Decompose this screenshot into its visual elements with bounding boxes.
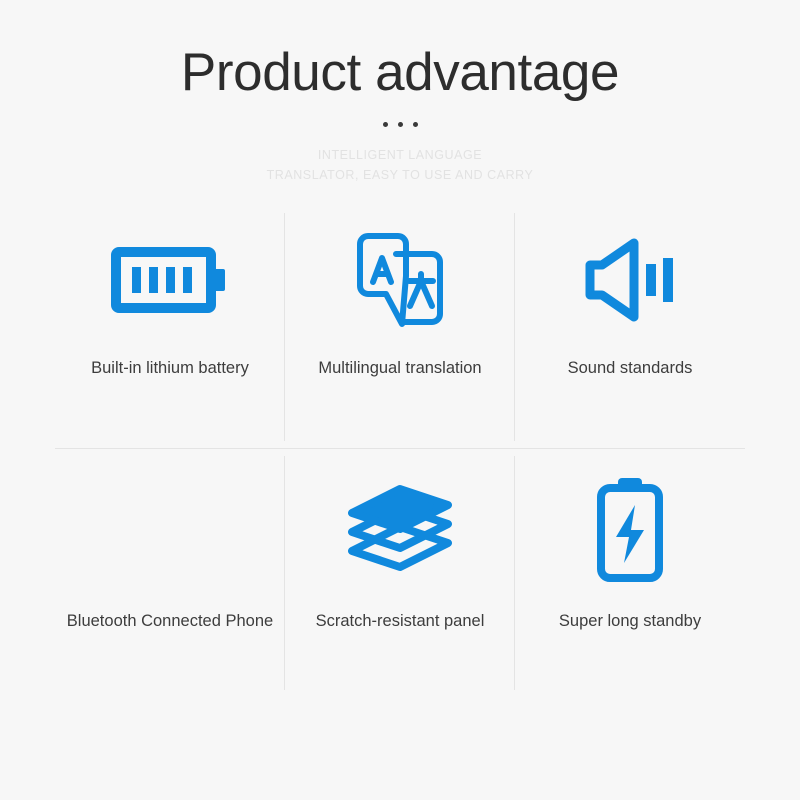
icon-slot xyxy=(582,204,678,356)
product-advantage-page: Product advantage INTELLIGENT LANGUAGE T… xyxy=(0,0,800,800)
dot-2 xyxy=(398,122,403,127)
page-title: Product advantage xyxy=(0,44,800,101)
feature-cell-super-long-standby[interactable]: Super long standby xyxy=(515,449,745,694)
icon-slot xyxy=(111,204,229,356)
page-header: Product advantage INTELLIGENT LANGUAGE T… xyxy=(0,0,800,186)
feature-label: Built-in lithium battery xyxy=(91,356,249,380)
feature-label: Bluetooth Connected Phone xyxy=(67,609,273,633)
battery-horizontal-icon xyxy=(111,242,229,318)
icon-slot xyxy=(591,449,669,609)
feature-label: Super long standby xyxy=(559,609,701,633)
feature-cell-built-in-lithium-battery[interactable]: Built-in lithium battery xyxy=(55,204,285,449)
feature-row-1: Built-in lithium battery xyxy=(55,204,745,449)
layers-stack-icon xyxy=(347,483,453,575)
subtitle-line-1: INTELLIGENT LANGUAGE xyxy=(0,145,800,165)
feature-cell-sound-standards[interactable]: Sound standards xyxy=(515,204,745,449)
icon-slot xyxy=(352,204,448,356)
dot-3 xyxy=(413,122,418,127)
icon-slot xyxy=(347,449,453,609)
battery-charging-vertical-icon xyxy=(591,475,669,583)
dot-1 xyxy=(383,122,388,127)
speaker-volume-icon xyxy=(582,237,678,323)
feature-label: Scratch-resistant panel xyxy=(316,609,485,633)
feature-row-2: Bluetooth Connected Phone Scratch-resist… xyxy=(55,449,745,694)
feature-cell-multilingual-translation[interactable]: Multilingual translation xyxy=(285,204,515,449)
decorative-dots xyxy=(0,119,800,129)
subtitle-line-2: TRANSLATOR, EASY TO USE AND CARRY xyxy=(0,165,800,185)
feature-cell-scratch-resistant-panel[interactable]: Scratch-resistant panel xyxy=(285,449,515,694)
feature-cell-bluetooth-connected-phone[interactable]: Bluetooth Connected Phone xyxy=(55,449,285,694)
translate-cards-icon xyxy=(352,230,448,330)
feature-grid: Built-in lithium battery xyxy=(55,204,745,694)
feature-label: Sound standards xyxy=(568,356,693,380)
feature-label: Multilingual translation xyxy=(318,356,481,380)
page-subtitle: INTELLIGENT LANGUAGE TRANSLATOR, EASY TO… xyxy=(0,145,800,186)
